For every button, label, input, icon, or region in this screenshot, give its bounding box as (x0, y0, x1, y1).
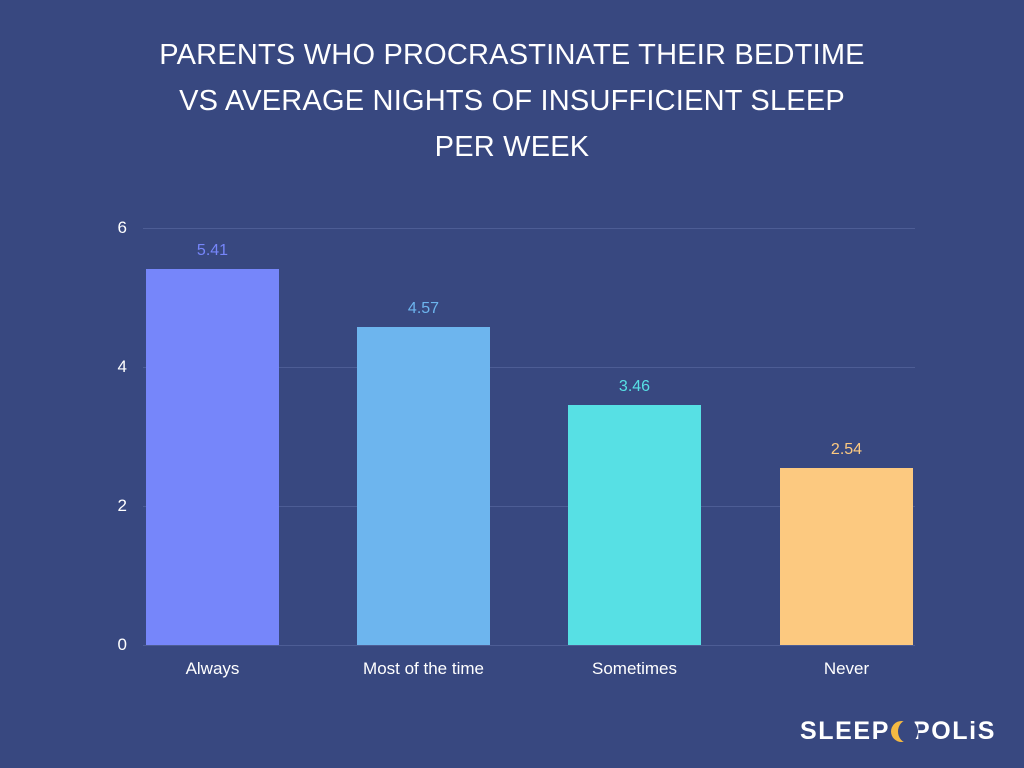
bar-group-sometimes: 3.46 Sometimes (568, 228, 701, 645)
x-axis-category-label: Most of the time (317, 660, 530, 677)
title-line-1: PARENTS WHO PROCRASTINATE THEIR BEDTIME (0, 32, 1024, 78)
bar[interactable] (780, 468, 913, 645)
x-axis-category-label: Always (106, 660, 319, 677)
x-axis-category-label: Sometimes (528, 660, 741, 677)
title-line-3: PER WEEK (0, 124, 1024, 170)
title-line-2: VS AVERAGE NIGHTS OF INSUFFICIENT SLEEP (0, 78, 1024, 124)
crescent-moon-icon (891, 721, 912, 742)
y-tick-label-6: 6 (87, 219, 127, 236)
y-tick-label-0: 0 (87, 636, 127, 653)
logo-text-after: POLiS (913, 717, 996, 746)
bar-group-never: 2.54 Never (780, 228, 913, 645)
y-tick-label-4: 4 (87, 358, 127, 375)
axis-baseline (143, 645, 915, 646)
bar-value-label: 5.41 (146, 243, 279, 259)
logo-text-before: SLEEP (800, 717, 890, 746)
bar-value-label: 2.54 (780, 442, 913, 458)
bar[interactable] (568, 405, 701, 645)
bar-value-label: 4.57 (357, 301, 490, 317)
chart-canvas: PARENTS WHO PROCRASTINATE THEIR BEDTIME … (0, 0, 1024, 768)
bar-group-most-of-the-time: 4.57 Most of the time (357, 228, 490, 645)
page-title: PARENTS WHO PROCRASTINATE THEIR BEDTIME … (0, 32, 1024, 170)
bar-group-always: 5.41 Always (146, 228, 279, 645)
y-tick-label-2: 2 (87, 497, 127, 514)
x-axis-category-label: Never (740, 660, 953, 677)
bar[interactable] (357, 327, 490, 645)
plot-area: 6 4 2 0 5.41 Always 4.57 Most of the tim… (143, 228, 915, 645)
sleepopolis-logo: SLEEP POLiS (800, 717, 996, 746)
bar[interactable] (146, 269, 279, 645)
bar-value-label: 3.46 (568, 379, 701, 395)
